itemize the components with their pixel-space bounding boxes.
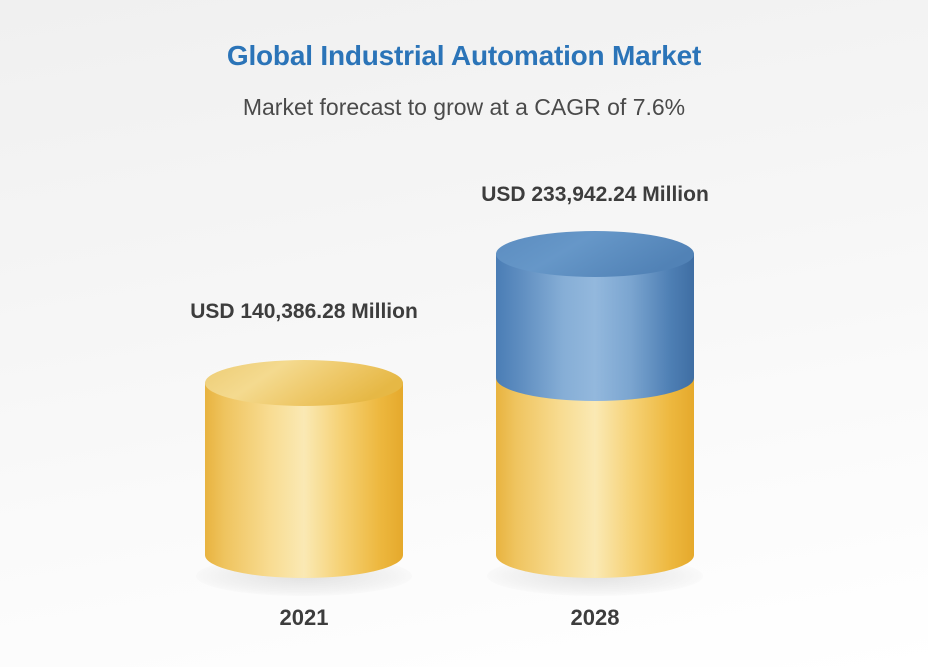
cylinder-cap-2021 — [205, 360, 403, 406]
bar-value-label-2021: USD 140,386.28 Million — [164, 300, 444, 324]
bar-value-label-2028: USD 233,942.24 Million — [455, 183, 735, 207]
cylinder-cap-2028 — [496, 231, 694, 277]
plot-area: USD 140,386.28 Million — [0, 0, 928, 667]
category-label-2028: 2028 — [455, 605, 735, 631]
chart-container: Global Industrial Automation Market Mark… — [0, 0, 928, 667]
cylinder-body-2021 — [205, 383, 403, 578]
cylinder-2021[interactable] — [205, 360, 403, 586]
cylinder-segment-base-2028 — [496, 378, 694, 578]
cylinder-2028[interactable] — [496, 225, 694, 605]
category-label-2021: 2021 — [164, 605, 444, 631]
